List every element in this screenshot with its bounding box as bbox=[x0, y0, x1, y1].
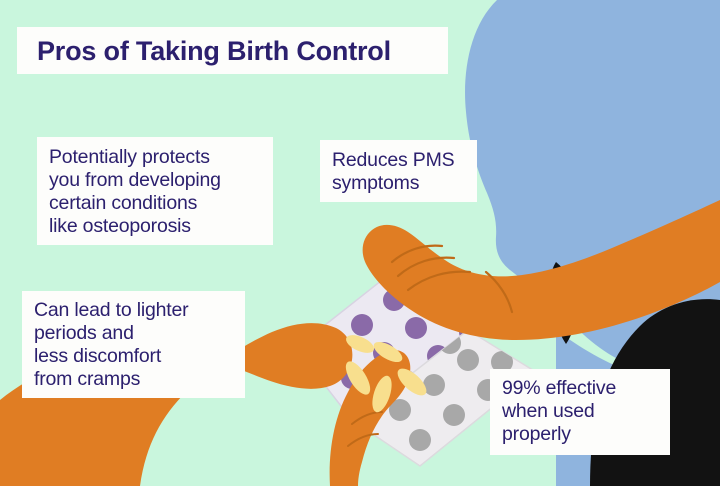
callout-line: certain conditions bbox=[49, 192, 273, 215]
callout-line: when used bbox=[502, 400, 670, 423]
callout-line: periods and bbox=[34, 322, 245, 345]
callout-line: properly bbox=[502, 423, 670, 446]
callout-line: like osteoporosis bbox=[49, 215, 273, 238]
callout-effectiveness: 99% effective when used properly bbox=[490, 369, 670, 455]
callout-line: 99% effective bbox=[502, 377, 670, 400]
callout-line: you from developing bbox=[49, 169, 273, 192]
page-title: Pros of Taking Birth Control bbox=[17, 27, 448, 74]
callout-line: Potentially protects bbox=[49, 146, 273, 169]
callout-line: from cramps bbox=[34, 368, 245, 391]
infographic-canvas: Pros of Taking Birth Control Potentially… bbox=[0, 0, 720, 486]
callout-lighter-periods: Can lead to lighter periods and less dis… bbox=[22, 291, 245, 398]
callout-line: Reduces PMS bbox=[332, 149, 477, 172]
page-title-text: Pros of Taking Birth Control bbox=[37, 36, 391, 66]
callout-line: symptoms bbox=[332, 172, 477, 195]
callout-line: less discomfort bbox=[34, 345, 245, 368]
callout-reduces-pms: Reduces PMS symptoms bbox=[320, 140, 477, 202]
callout-line: Can lead to lighter bbox=[34, 299, 245, 322]
callout-potentially-protects: Potentially protects you from developing… bbox=[37, 137, 273, 245]
